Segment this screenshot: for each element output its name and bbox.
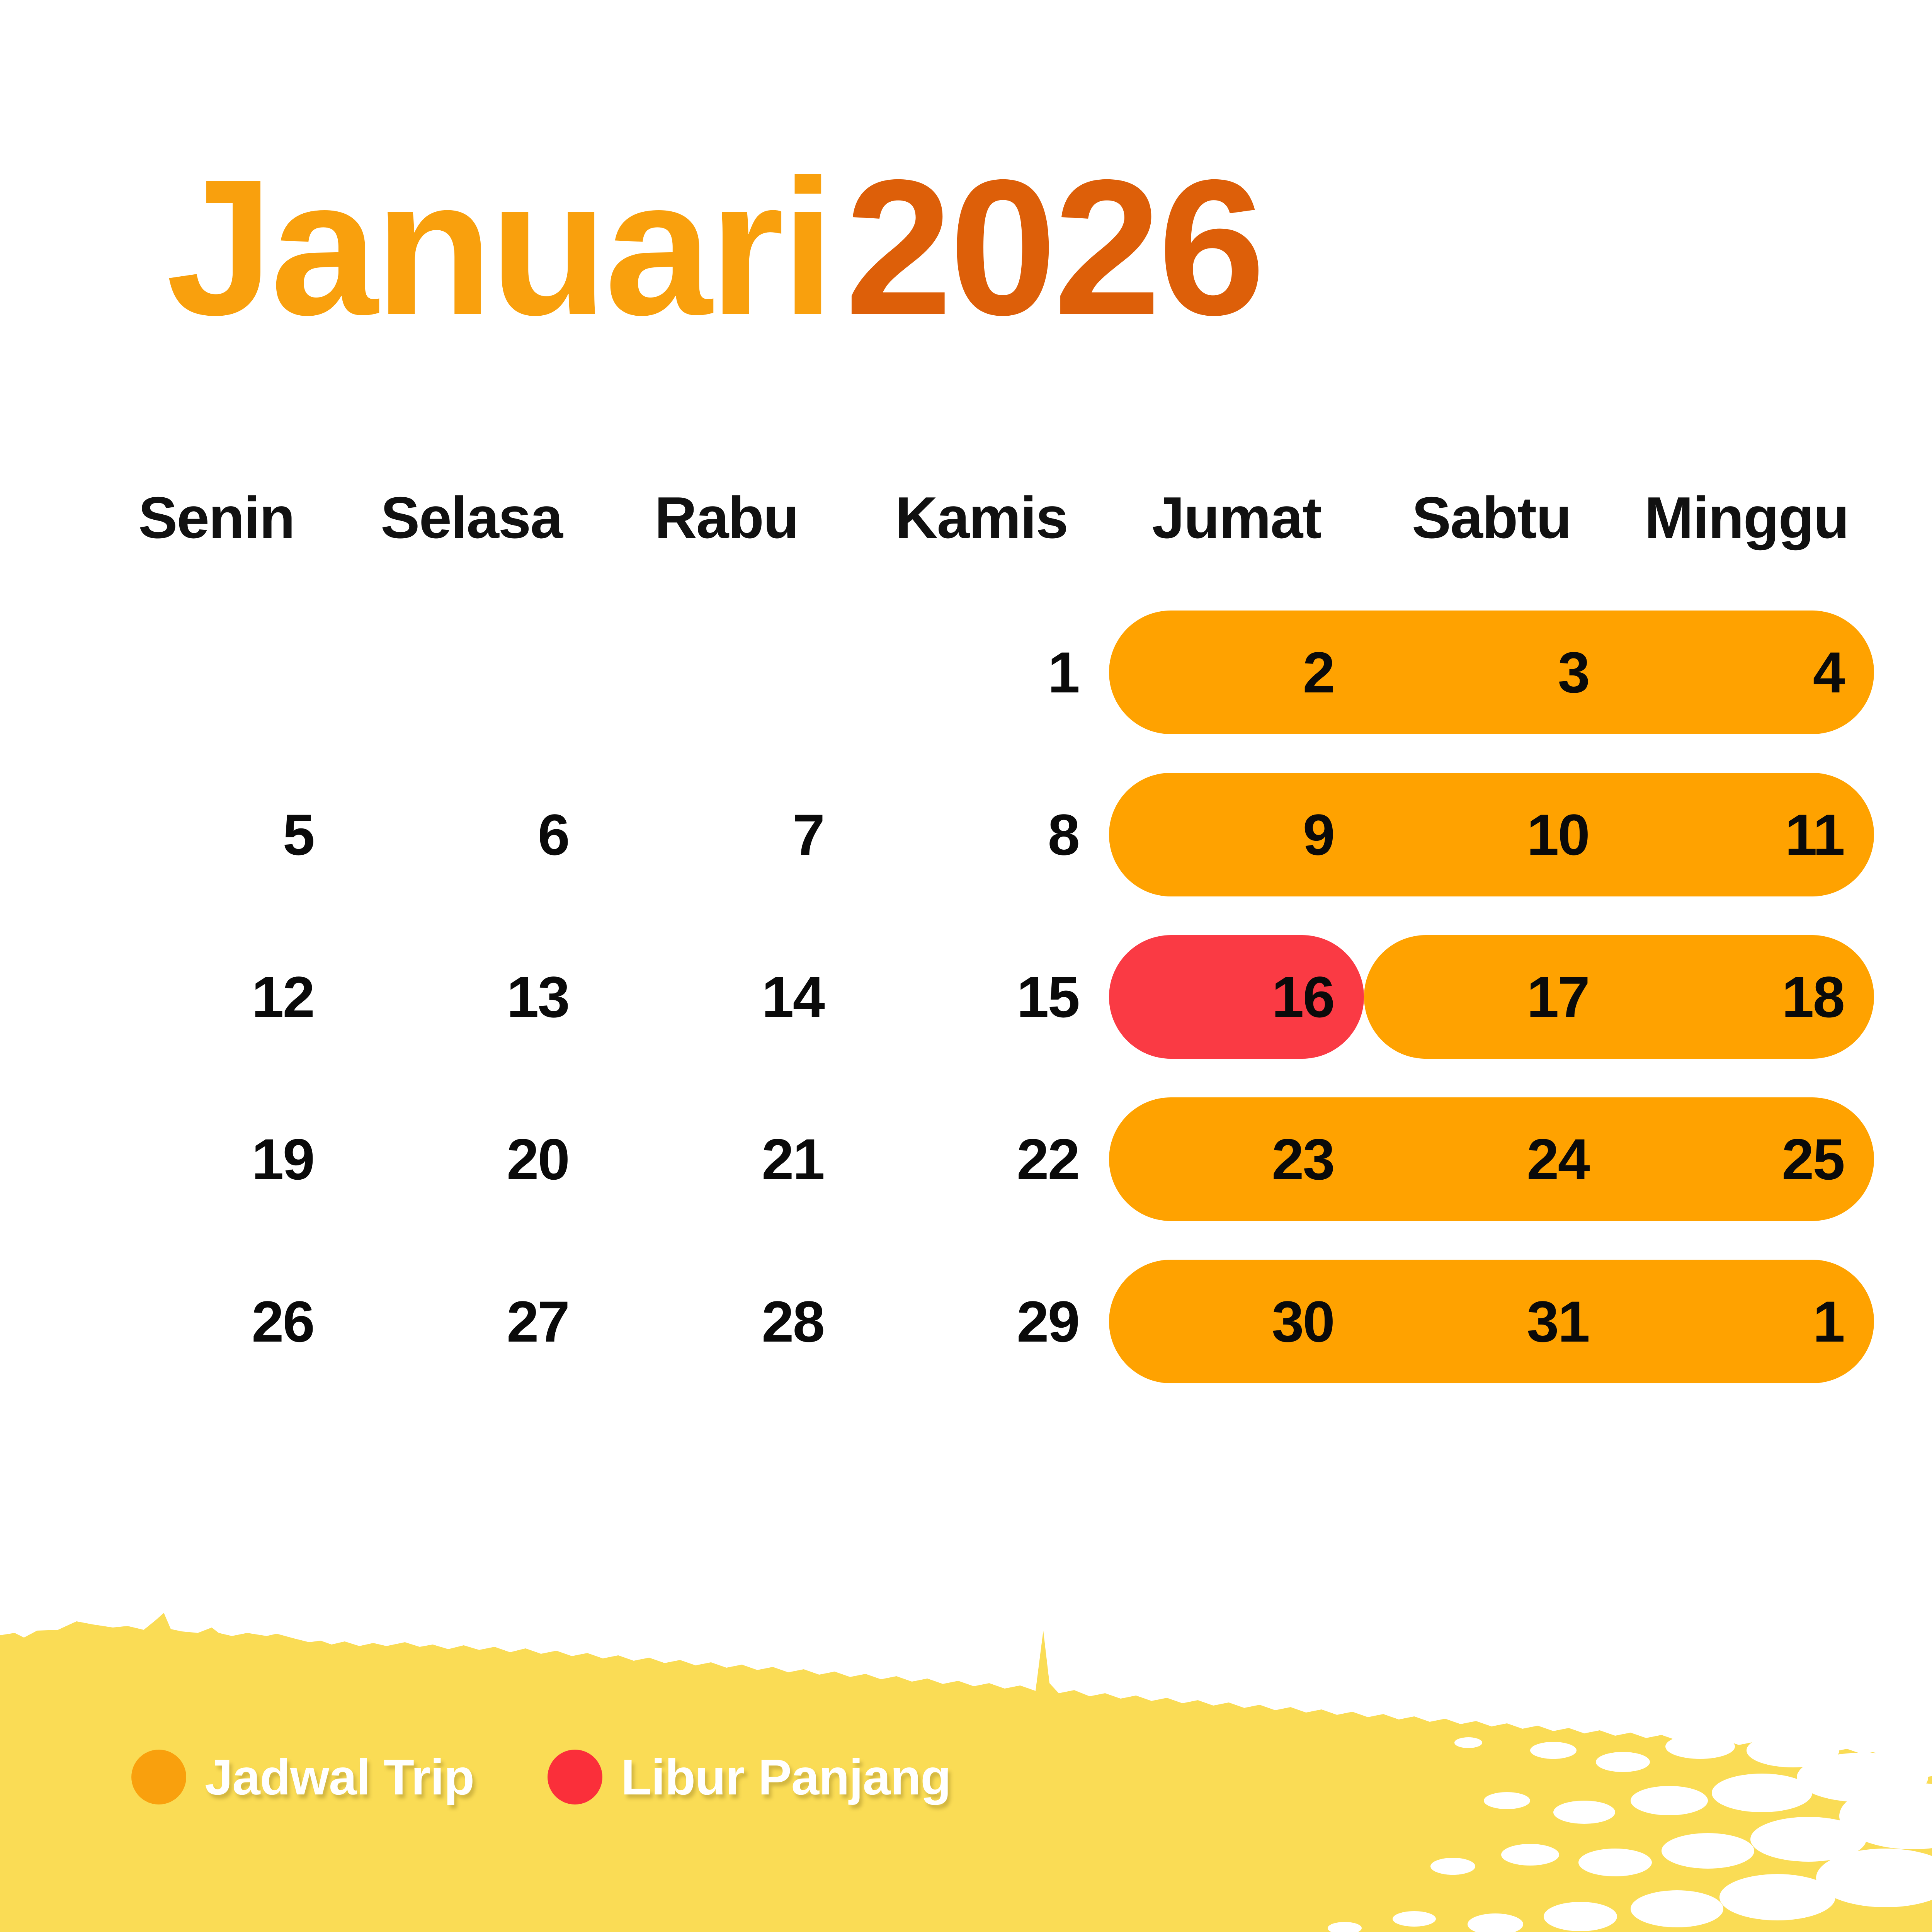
- calendar-day-cell[interactable]: 6: [344, 773, 599, 896]
- calendar-day-cell[interactable]: 8: [854, 773, 1109, 896]
- calendar-day-cell[interactable]: 17: [1364, 935, 1619, 1059]
- year-label: 2026: [845, 139, 1262, 355]
- calendar-day-cell[interactable]: 29: [854, 1260, 1109, 1383]
- calendar-day-cell[interactable]: 10: [1364, 773, 1619, 896]
- weekday-header-rabu: Rabu: [599, 488, 854, 547]
- calendar-day-cell[interactable]: 21: [599, 1097, 854, 1221]
- weekday-header-senin: Senin: [89, 488, 344, 547]
- calendar-day-cell[interactable]: 14: [599, 935, 854, 1059]
- month-label: Januari: [166, 139, 832, 355]
- calendar-weeks: 1234567891011121314151617181920212223242…: [89, 611, 1874, 1383]
- page-title: Januari2026: [166, 128, 1789, 344]
- calendar-day-cell[interactable]: 28: [599, 1260, 854, 1383]
- calendar-week-row: 567891011: [89, 773, 1874, 896]
- calendar-day-cell[interactable]: 1: [854, 611, 1109, 734]
- weekday-header-kamis: Kamis: [854, 488, 1109, 547]
- calendar-day-cell[interactable]: 26: [89, 1260, 344, 1383]
- calendar-day-cell[interactable]: 15: [854, 935, 1109, 1059]
- legend: Jadwal TripLibur Panjang: [131, 1750, 951, 1804]
- calendar-day-cell[interactable]: 24: [1364, 1097, 1619, 1221]
- legend-item: Jadwal Trip: [131, 1750, 474, 1804]
- calendar-week-row: 2627282930311: [89, 1260, 1874, 1383]
- calendar-week-row: 12131415161718: [89, 935, 1874, 1059]
- calendar-week-row: 19202122232425: [89, 1097, 1874, 1221]
- weekday-header-jumat: Jumat: [1109, 488, 1364, 547]
- calendar-cell-empty: [344, 611, 599, 734]
- calendar-day-cell[interactable]: 22: [854, 1097, 1109, 1221]
- calendar-cell-empty: [599, 611, 854, 734]
- calendar-day-cell[interactable]: 23: [1109, 1097, 1364, 1221]
- calendar-day-cell[interactable]: 19: [89, 1097, 344, 1221]
- calendar-poster: Januari2026 SeninSelasaRabuKamisJumatSab…: [0, 0, 1932, 1932]
- legend-trip-dot-icon: [131, 1750, 186, 1804]
- calendar-day-cell[interactable]: 2: [1109, 611, 1364, 734]
- calendar-day-cell[interactable]: 18: [1619, 935, 1874, 1059]
- calendar-day-cell[interactable]: 5: [89, 773, 344, 896]
- weekday-header-selasa: Selasa: [344, 488, 599, 547]
- calendar-week-row: 1234: [89, 611, 1874, 734]
- calendar-day-cell[interactable]: 30: [1109, 1260, 1364, 1383]
- weekday-header-minggu: Minggu: [1619, 488, 1874, 547]
- calendar-day-cell[interactable]: 11: [1619, 773, 1874, 896]
- calendar-day-cell[interactable]: 31: [1364, 1260, 1619, 1383]
- calendar-grid: SeninSelasaRabuKamisJumatSabtuMinggu 123…: [89, 475, 1874, 1383]
- legend-label: Jadwal Trip: [205, 1752, 474, 1802]
- calendar-day-cell[interactable]: 12: [89, 935, 344, 1059]
- calendar-day-cell[interactable]: 25: [1619, 1097, 1874, 1221]
- calendar-day-cell[interactable]: 7: [599, 773, 854, 896]
- calendar-day-cell[interactable]: 16: [1109, 935, 1364, 1059]
- calendar-day-cell[interactable]: 1: [1619, 1260, 1874, 1383]
- weekday-header-row: SeninSelasaRabuKamisJumatSabtuMinggu: [89, 475, 1874, 560]
- calendar-day-cell[interactable]: 4: [1619, 611, 1874, 734]
- calendar-cell-empty: [89, 611, 344, 734]
- calendar-day-cell[interactable]: 27: [344, 1260, 599, 1383]
- calendar-day-cell[interactable]: 9: [1109, 773, 1364, 896]
- legend-holiday-dot-icon: [548, 1750, 602, 1804]
- calendar-day-cell[interactable]: 3: [1364, 611, 1619, 734]
- legend-label: Libur Panjang: [621, 1752, 951, 1802]
- legend-item: Libur Panjang: [548, 1750, 951, 1804]
- weekday-header-sabtu: Sabtu: [1364, 488, 1619, 547]
- calendar-day-cell[interactable]: 20: [344, 1097, 599, 1221]
- calendar-day-cell[interactable]: 13: [344, 935, 599, 1059]
